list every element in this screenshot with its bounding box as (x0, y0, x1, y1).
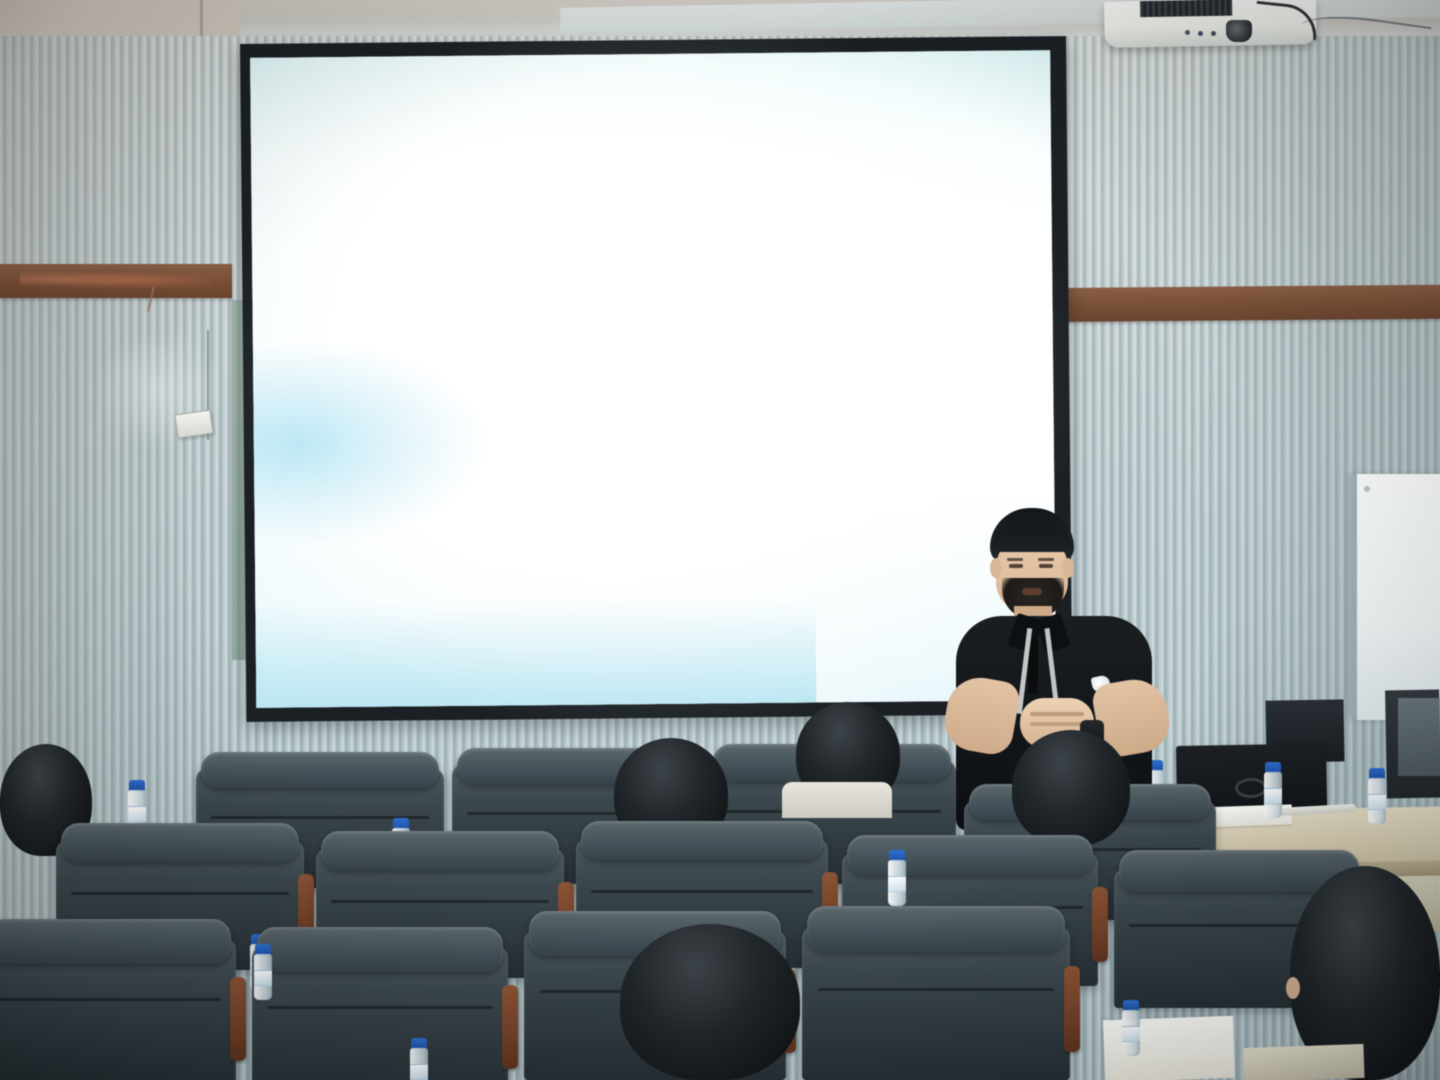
seat-seam (591, 890, 813, 893)
presenter-fingers (1030, 722, 1084, 726)
bottle-label (254, 970, 272, 986)
bottle-label (1122, 1026, 1140, 1042)
bottle-label (1264, 788, 1282, 804)
projection-screen-tint-bottom (255, 599, 816, 708)
seat-seam (331, 900, 549, 903)
seat[interactable] (252, 946, 508, 1080)
presenter-ear (1062, 558, 1074, 578)
seat-headrest (807, 906, 1064, 952)
monitor-screen (1398, 698, 1440, 776)
presenter-eye (1009, 564, 1023, 568)
seat-headrest (581, 821, 823, 860)
projector-lens-icon (1226, 20, 1252, 42)
presenter-eye (1039, 564, 1053, 568)
wall-trim-scuff (20, 270, 210, 288)
audience-shirt (782, 782, 892, 818)
seat-headrest (61, 823, 299, 862)
seat-headrest (257, 927, 503, 972)
seat-seam (71, 892, 289, 895)
whiteboard-magnet-icon (1364, 486, 1370, 492)
seat-armrest (1064, 966, 1080, 1052)
presenter-mouth (1022, 588, 1042, 595)
wall-trim-right (1062, 285, 1440, 322)
seat-armrest (1092, 887, 1108, 962)
bottle-label (410, 1064, 428, 1080)
seat[interactable] (802, 926, 1070, 1080)
presenter-ear (990, 558, 1002, 578)
projector-led-icon (1198, 31, 1203, 36)
seat-seam (0, 998, 221, 1001)
wall-sensor-device[interactable] (175, 410, 214, 439)
presenter-fingers (1030, 712, 1084, 716)
audience-member (620, 924, 800, 1080)
lecture-hall-photo (0, 0, 1440, 1080)
audience-hair (620, 924, 800, 1080)
seat-headrest (201, 752, 439, 788)
seat-headrest (0, 919, 231, 964)
seat-headrest (321, 831, 559, 870)
seat-seam (818, 988, 1054, 991)
seat-headrest (847, 835, 1093, 875)
presenter-hairline (992, 526, 1072, 552)
seat-writing-tablet (1243, 1044, 1364, 1080)
seat[interactable] (0, 938, 236, 1080)
seat-armrest (230, 977, 246, 1061)
seat-seam (267, 1006, 492, 1009)
presenter-eyebrow (1038, 558, 1054, 561)
bottle-label (128, 806, 146, 822)
projector-led-icon (1211, 31, 1216, 36)
audience-member (1012, 730, 1130, 846)
audience-hair (1012, 730, 1130, 846)
whiteboard[interactable] (1352, 474, 1440, 720)
bottle-label (1368, 794, 1386, 810)
bottle-label (888, 876, 906, 892)
projector-vent (1140, 0, 1232, 17)
projection-screen-tint-left (253, 342, 485, 544)
seat-armrest (502, 985, 518, 1069)
projector-led-icon (1185, 30, 1190, 35)
presenter-eyebrow (1007, 558, 1023, 561)
